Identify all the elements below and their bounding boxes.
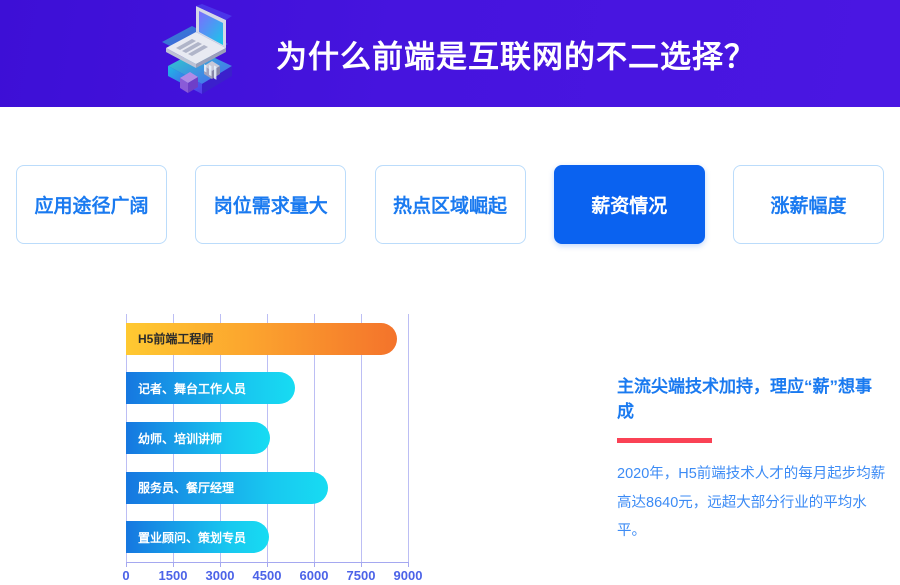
chart-x-tick-label: 9000 [394, 568, 423, 583]
chart-x-tick [173, 562, 174, 567]
chart-x-tick-label: 4500 [253, 568, 282, 583]
insight-body: 2020年，H5前端技术人才的每月起步均薪高达8640元，远超大部分行业的平均水… [617, 460, 887, 545]
chart-x-tick-label: 6000 [300, 568, 329, 583]
chart-plot-area: H5前端工程师记者、舞台工作人员幼师、培训讲师服务员、餐厅经理置业顾问、策划专员 [126, 314, 408, 562]
chart-x-tick-label: 0 [122, 568, 129, 583]
page-header: 为什么前端是互联网的不二选择？ [0, 0, 900, 107]
tab-label: 应用途径广阔 [34, 191, 148, 218]
insight-panel: 主流尖端技术加持，理应“薪”想事成 2020年，H5前端技术人才的每月起步均薪高… [617, 375, 887, 545]
chart-x-tick [220, 562, 221, 567]
tab-label: 岗位需求量大 [214, 191, 328, 218]
chart-x-tick-label: 3000 [206, 568, 235, 583]
chart-x-tick-label: 7500 [347, 568, 376, 583]
insight-divider [617, 438, 712, 443]
insight-title: 主流尖端技术加持，理应“薪”想事成 [617, 375, 887, 424]
chart-bar-label: 幼师、培训讲师 [126, 430, 222, 447]
chart-bar-label: 置业顾问、策划专员 [126, 529, 246, 546]
laptop-isometric-icon [136, 4, 240, 104]
chart-bar[interactable]: 置业顾问、策划专员 [126, 521, 269, 553]
chart-x-tick [314, 562, 315, 567]
chart-gridline [408, 314, 409, 562]
salary-bar-chart: H5前端工程师记者、舞台工作人员幼师、培训讲师服务员、餐厅经理置业顾问、策划专员… [0, 300, 470, 585]
tab-label: 薪资情况 [591, 191, 667, 218]
chart-x-tick [408, 562, 409, 567]
tab-job-demand[interactable]: 岗位需求量大 [195, 165, 346, 244]
tab-bar: 应用途径广阔 岗位需求量大 热点区域崛起 薪资情况 涨薪幅度 [0, 165, 900, 244]
tab-label: 涨薪幅度 [770, 191, 846, 218]
chart-bar[interactable]: 幼师、培训讲师 [126, 422, 270, 454]
tab-label: 热点区域崛起 [393, 191, 507, 218]
chart-bar[interactable]: 记者、舞台工作人员 [126, 372, 295, 404]
tab-salary[interactable]: 薪资情况 [554, 165, 705, 244]
chart-x-tick [361, 562, 362, 567]
chart-bar[interactable]: H5前端工程师 [126, 323, 397, 355]
chart-bar-label: 记者、舞台工作人员 [126, 380, 246, 397]
chart-bar[interactable]: 服务员、餐厅经理 [126, 472, 328, 504]
chart-x-tick [126, 562, 127, 567]
page-title: 为什么前端是互联网的不二选择？ [276, 31, 756, 76]
tab-application-scope[interactable]: 应用途径广阔 [16, 165, 167, 244]
tab-raise-range[interactable]: 涨薪幅度 [733, 165, 884, 244]
chart-bar-label: 服务员、餐厅经理 [126, 479, 234, 496]
chart-x-tick [267, 562, 268, 567]
chart-x-tick-label: 1500 [159, 568, 188, 583]
chart-bar-label: H5前端工程师 [126, 330, 213, 347]
tab-hot-regions[interactable]: 热点区域崛起 [375, 165, 526, 244]
